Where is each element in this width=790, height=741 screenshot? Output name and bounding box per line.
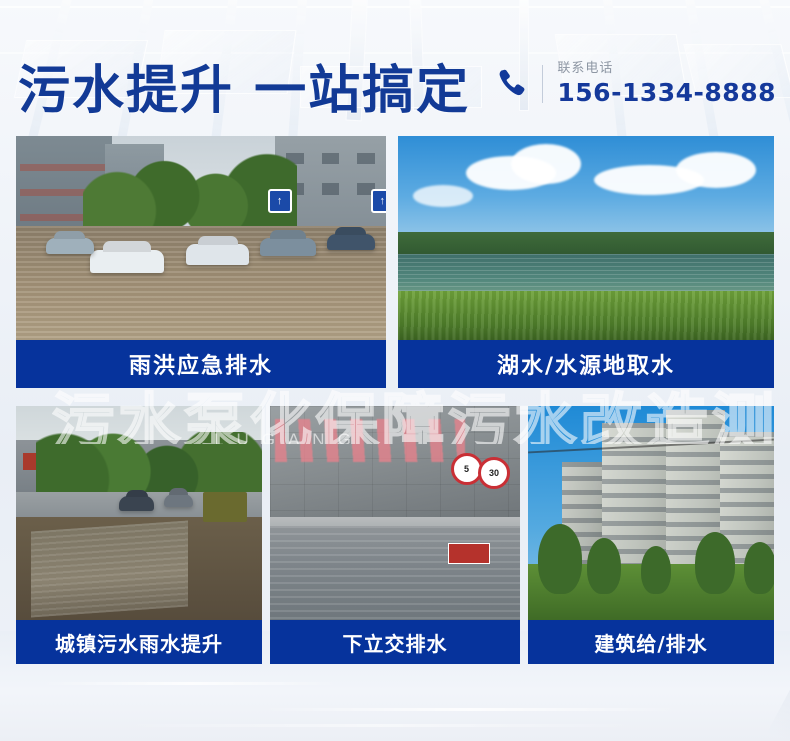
caption-building-plumbing: 建筑给/排水 (528, 620, 774, 664)
contact-label: 联系电话 (557, 62, 776, 75)
gallery-card-underpass[interactable]: 5 30 下立交排水 (270, 406, 520, 664)
contact-divider (542, 65, 543, 103)
poster-canvas: 污水提升 一站搞定 联系电话 156-1334-8888 (0, 0, 790, 741)
caption-lake-source: 湖水/水源地取水 (398, 340, 774, 388)
gallery-card-lake-source[interactable]: 湖水/水源地取水 (398, 136, 774, 388)
photo-building-plumbing (528, 406, 774, 620)
gallery-top-row: ↑ ↑ 雨洪应急排水 湖水/水源地取水 (16, 136, 774, 388)
gallery-card-building-plumbing[interactable]: 建筑给/排水 (528, 406, 774, 664)
photo-flooded-street: ↑ ↑ (16, 136, 386, 340)
speed-limit-sign-value: 30 (489, 468, 499, 478)
height-limit-sign-value: 5 (464, 464, 469, 474)
contact-block[interactable]: 联系电话 156-1334-8888 (494, 62, 776, 105)
gallery-bottom-row: 城镇污水雨水提升 5 30 下立交 (16, 406, 774, 664)
page-title: 污水提升 一站搞定 (18, 48, 470, 123)
photo-town-sewage (16, 406, 262, 620)
photo-lake-source (398, 136, 774, 340)
gallery-card-town-sewage[interactable]: 城镇污水雨水提升 (16, 406, 262, 664)
poster-header: 污水提升 一站搞定 联系电话 156-1334-8888 (0, 0, 790, 130)
contact-text: 联系电话 156-1334-8888 (557, 62, 776, 105)
photo-underpass: 5 30 (270, 406, 520, 620)
contact-number[interactable]: 156-1334-8888 (557, 80, 776, 105)
caption-underpass: 下立交排水 (270, 620, 520, 664)
caption-flooded-street: 雨洪应急排水 (16, 340, 386, 388)
phone-icon (494, 67, 528, 101)
caption-town-sewage: 城镇污水雨水提升 (16, 620, 262, 664)
gallery-card-flooded-street[interactable]: ↑ ↑ 雨洪应急排水 (16, 136, 386, 388)
